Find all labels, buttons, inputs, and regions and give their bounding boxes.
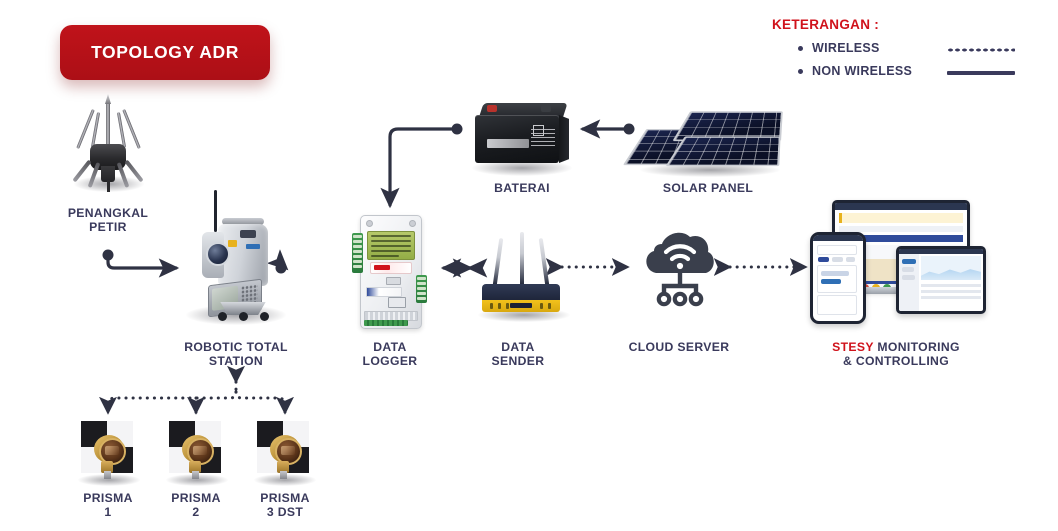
data-logger-icon	[352, 215, 428, 330]
label-solar-panel: SOLAR PANEL	[638, 182, 778, 196]
page-title: TOPOLOGY ADR	[91, 42, 239, 63]
prism-icon	[253, 419, 315, 481]
label-monitoring-rest: MONITORING	[874, 340, 960, 354]
prism-icon	[77, 419, 139, 481]
phone-screen	[810, 232, 866, 324]
page-title-badge: TOPOLOGY ADR	[60, 25, 270, 80]
link-total-station-to-prisms	[108, 382, 285, 413]
label-prism-2: PRISMA 2	[146, 492, 246, 519]
topology-diagram: TOPOLOGY ADR KETERANGAN : WIRELESS NON W…	[0, 0, 1058, 531]
label-prism-1: PRISMA 1	[58, 492, 158, 519]
link-solar-panel-to-battery	[583, 124, 635, 135]
devices-icon	[810, 200, 980, 320]
label-monitoring-line2: & CONTROLLING	[824, 355, 968, 369]
total-station-icon	[188, 190, 284, 318]
legend-item-wireless: WIRELESS	[772, 41, 1032, 55]
label-battery: BATERAI	[452, 182, 592, 196]
label-lightning-rod: PENANGKAL PETIR	[38, 207, 178, 234]
label-monitoring: STESY MONITORING & CONTROLLING	[824, 341, 968, 368]
legend-line-dotted-icon	[947, 48, 1015, 52]
label-data-sender: DATA SENDER	[448, 341, 588, 368]
link-lightning-rod-to-total-station	[103, 250, 177, 269]
label-total-station: ROBOTIC TOTAL STATION	[166, 341, 306, 368]
label-data-logger: DATA LOGGER	[320, 341, 460, 368]
bullet-icon	[798, 46, 803, 51]
legend-label-wireless: WIRELESS	[812, 41, 880, 55]
legend-item-non-wireless: NON WIRELESS	[772, 64, 1032, 78]
cloud-wifi-icon	[640, 228, 718, 310]
prism-icon	[165, 419, 227, 481]
lightning-rod-icon	[72, 100, 144, 190]
label-cloud-server: CLOUD SERVER	[609, 341, 749, 355]
tablet-screen	[896, 246, 986, 314]
router-icon	[478, 232, 568, 322]
legend-heading: KETERANGAN :	[772, 17, 1032, 32]
legend-label-non-wireless: NON WIRELESS	[812, 64, 912, 78]
battery-icon	[475, 103, 570, 173]
label-prism-3: PRISMA 3 DST	[235, 492, 335, 519]
label-monitoring-brand: STESY	[832, 340, 874, 354]
legend-line-solid-icon	[947, 71, 1015, 75]
legend: KETERANGAN : WIRELESS NON WIRELESS	[772, 17, 1032, 78]
solar-panel-icon	[636, 100, 781, 172]
bullet-icon	[798, 69, 803, 74]
